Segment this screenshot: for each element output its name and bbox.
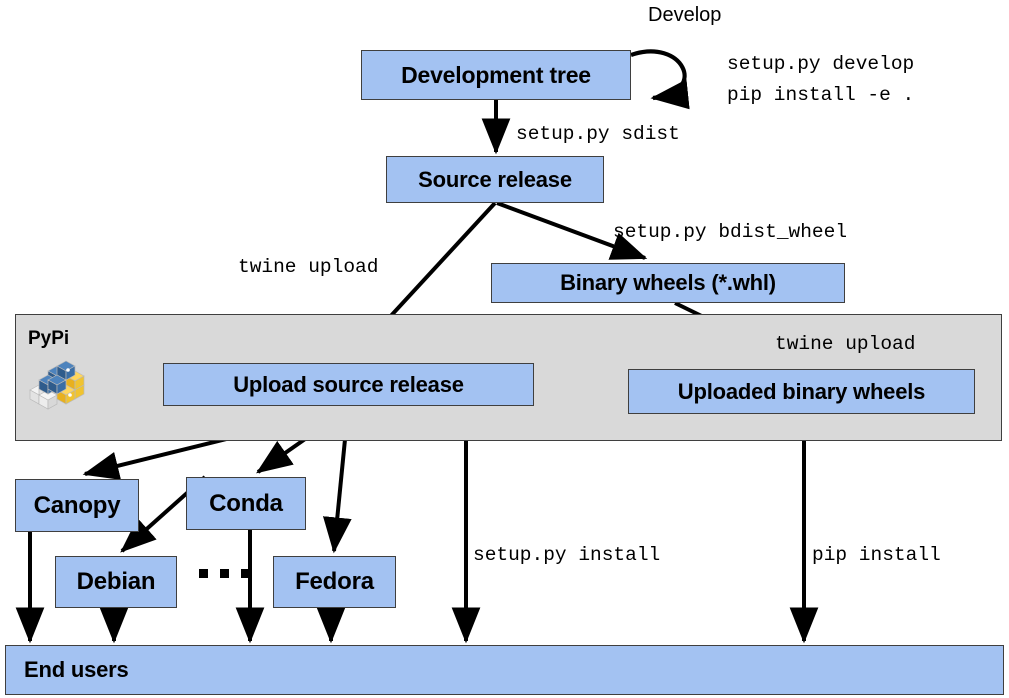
ellipsis-dot (241, 569, 250, 578)
label-develop: Develop (648, 4, 721, 27)
diagram-canvas: Development tree Source release Binary w… (0, 0, 1009, 698)
label-twine-upload-source: twine upload (238, 256, 378, 278)
label-twine-upload-wheels: twine upload (775, 333, 915, 355)
more-distros-ellipsis (199, 569, 250, 578)
label-setup-py-install: setup.py install (473, 544, 660, 566)
label-pip-install: pip install (812, 544, 941, 566)
label-setup-py-bdist-wheel: setup.py bdist_wheel (613, 221, 847, 243)
ellipsis-dot (199, 569, 208, 578)
edge-labels-layer: Develop setup.py develop pip install -e … (0, 0, 1009, 698)
ellipsis-dot (220, 569, 229, 578)
label-setup-py-develop: setup.py develop (727, 53, 914, 75)
label-pip-install-editable: pip install -e . (727, 84, 914, 106)
label-setup-py-sdist: setup.py sdist (516, 123, 680, 145)
